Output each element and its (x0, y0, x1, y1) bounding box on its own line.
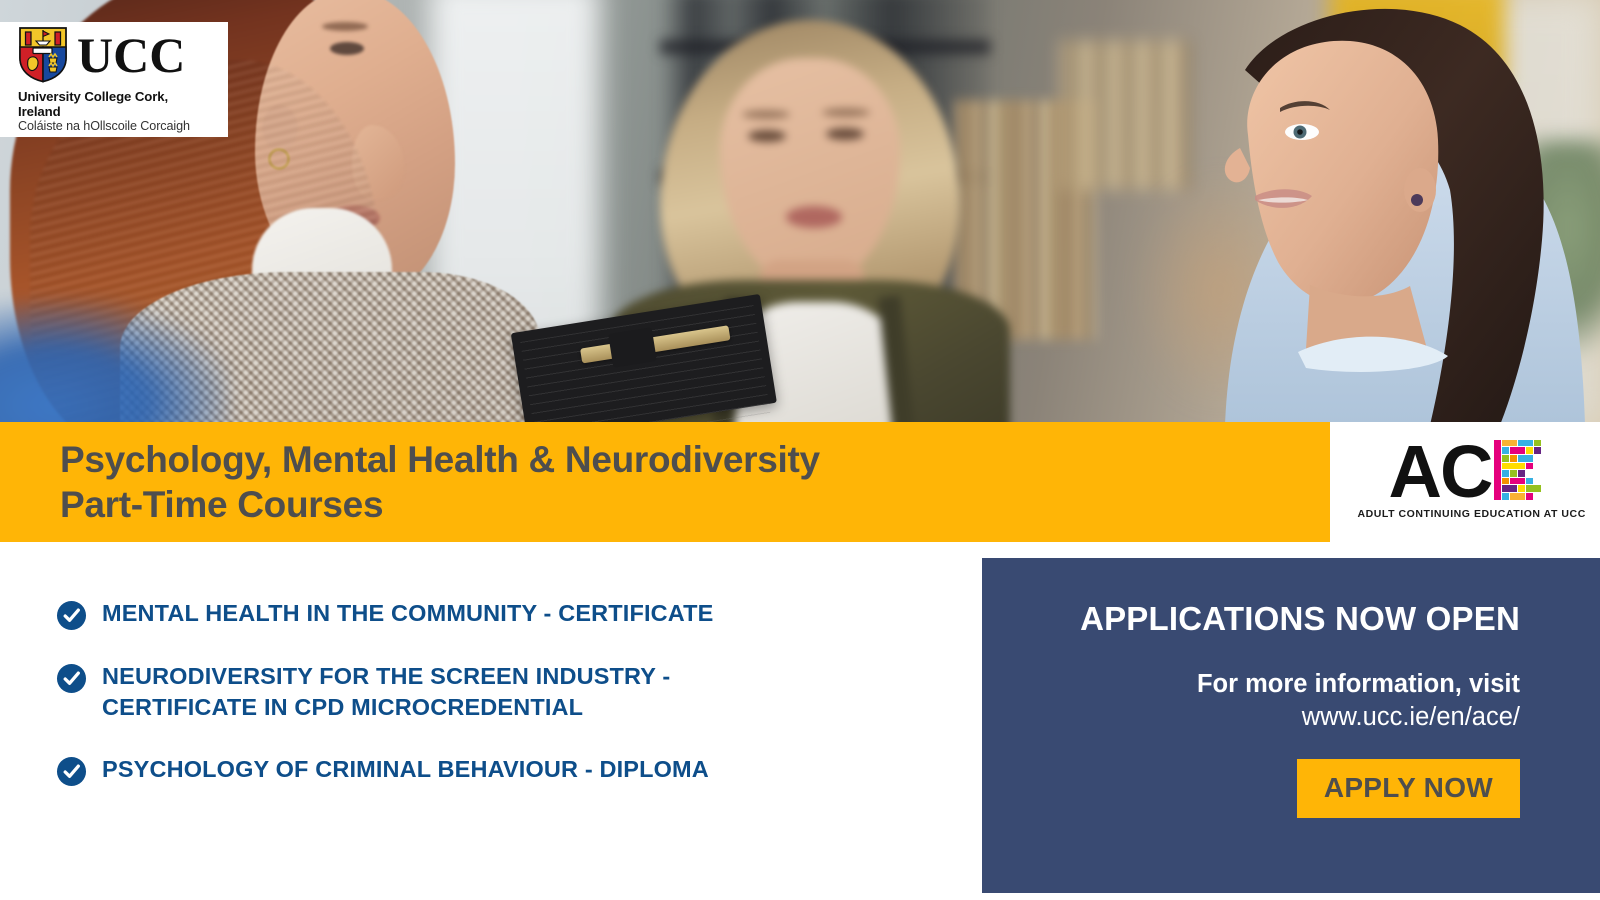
check-circle-icon (56, 663, 87, 694)
eyebrow (822, 108, 870, 117)
course-title: NEURODIVERSITY FOR THE SCREEN INDUSTRY -… (102, 661, 802, 724)
eyebrow (742, 110, 790, 119)
nose (1225, 148, 1250, 182)
list-item[interactable]: NEURODIVERSITY FOR THE SCREEN INDUSTRY -… (56, 661, 942, 724)
eyebrow (322, 22, 368, 31)
ace-logo-inner: A C (1358, 445, 1573, 520)
clipboard-clamp (608, 327, 657, 367)
lips (786, 206, 842, 228)
ucc-letters: UCC (77, 32, 185, 78)
more-info-text: For more information, visit (1022, 670, 1520, 699)
ucc-name-irish: Coláiste na hOllscoile Corcaigh (18, 119, 214, 133)
promo-poster: UCC University College Cork, Ireland Col… (0, 0, 1600, 900)
blue-accent (0, 300, 230, 422)
check-circle-icon (56, 600, 87, 631)
ace-letter-e-mosaic-icon (1494, 440, 1541, 500)
course-list: MENTAL HEALTH IN THE COMMUNITY - CERTIFI… (0, 542, 982, 900)
ace-logo: A C (1330, 422, 1600, 542)
title-banner: Psychology, Mental Health & Neurodiversi… (0, 422, 1330, 542)
ucc-name-english: University College Cork, Ireland (18, 89, 214, 119)
eye (748, 130, 786, 142)
eye (826, 128, 864, 140)
ucc-logo-top: UCC (18, 26, 214, 83)
ear (1404, 168, 1436, 212)
course-title: PSYCHOLOGY OF CRIMINAL BEHAVIOUR - DIPLO… (102, 754, 709, 785)
list-item[interactable]: PSYCHOLOGY OF CRIMINAL BEHAVIOUR - DIPLO… (56, 754, 942, 787)
ucc-crest-icon (18, 26, 68, 83)
person-right (1130, 0, 1600, 422)
applications-panel: APPLICATIONS NOW OPEN For more informati… (982, 558, 1600, 893)
pupil (1297, 129, 1303, 135)
ace-letter-a: A (1389, 442, 1438, 503)
eye (330, 42, 364, 55)
check-circle-icon (56, 756, 87, 787)
course-title: MENTAL HEALTH IN THE COMMUNITY - CERTIFI… (102, 598, 713, 629)
page-title: Psychology, Mental Health & Neurodiversi… (60, 437, 1330, 527)
earring (1411, 194, 1423, 206)
list-item[interactable]: MENTAL HEALTH IN THE COMMUNITY - CERTIFI… (56, 598, 942, 631)
ace-wordmark: A C (1358, 445, 1573, 503)
apply-now-button[interactable]: APPLY NOW (1297, 759, 1520, 818)
applications-headline: APPLICATIONS NOW OPEN (1022, 600, 1520, 638)
hero-photo: UCC University College Cork, Ireland Col… (0, 0, 1600, 422)
ucc-logo: UCC University College Cork, Ireland Col… (0, 22, 228, 137)
ace-letter-c: C (1440, 442, 1489, 503)
ace-subtitle: Adult Continuing Education at UCC (1358, 508, 1573, 520)
website-url[interactable]: www.ucc.ie/en/ace/ (1022, 703, 1520, 732)
